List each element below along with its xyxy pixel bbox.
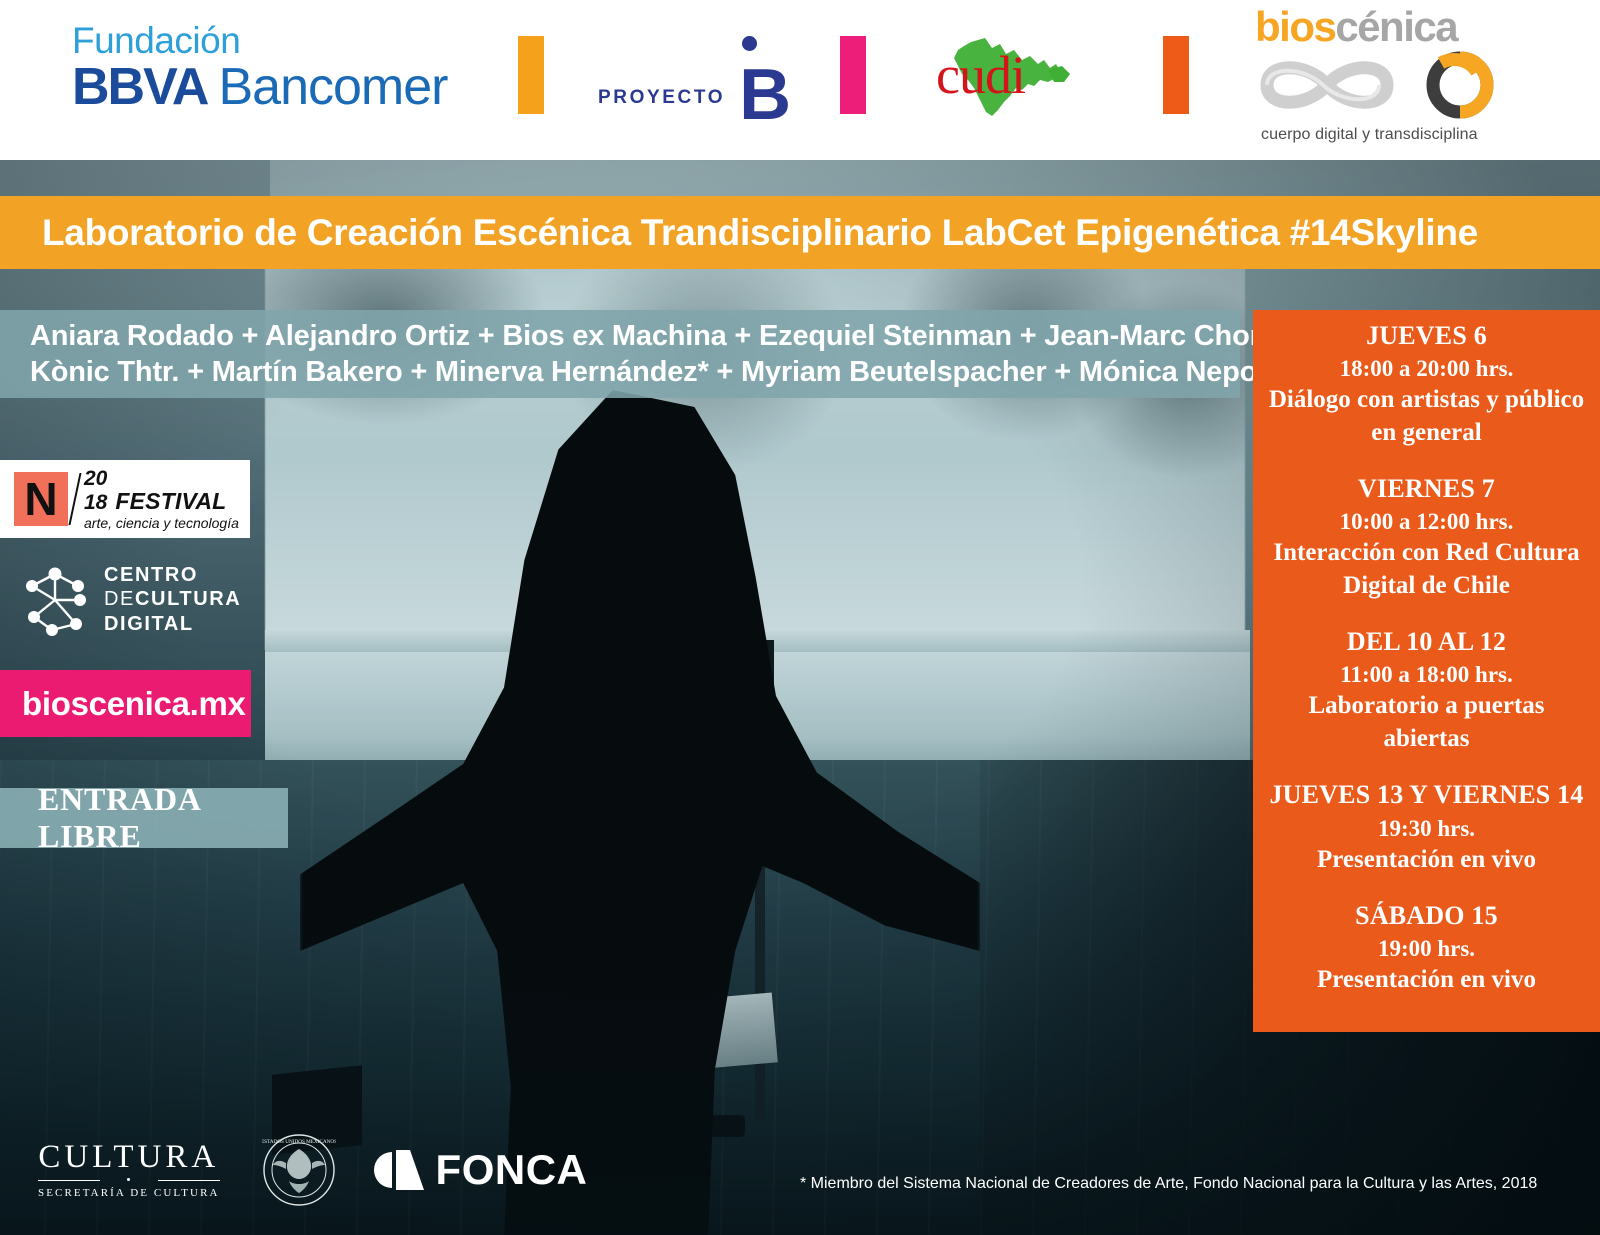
schedule-day: DEL 10 AL 12 (1253, 624, 1600, 659)
poster-root: Fundación BBVA Bancomer PROYECTO B cudi (0, 0, 1600, 1235)
bioscenica-word-part2: cénica (1335, 3, 1457, 50)
fonca-wordmark: FONCA (436, 1146, 588, 1194)
ccd-line-1: CENTRO (104, 564, 198, 586)
schedule-desc: Presentación en vivo (1253, 964, 1600, 997)
proyecto-b-letter: B (739, 59, 791, 131)
schedule-desc: Laboratorio a puertas abiertas (1253, 690, 1600, 755)
divider-bar-pink (840, 36, 866, 114)
proyecto-b-word: PROYECTO (598, 87, 725, 118)
schedule-desc: Interacción con Red Cultura Digital de C… (1253, 537, 1600, 602)
title-banner: Laboratorio de Creación Escénica Trandis… (0, 196, 1600, 269)
footnote-disclaimer: * Miembro del Sistema Nacional de Creado… (800, 1175, 1580, 1193)
infinity-loop-icon (1255, 50, 1495, 120)
secretaria-cultura-logo: CULTURA SECRETARÍA DE CULTURA (38, 1141, 220, 1199)
centro-cultura-digital-logo: CENTRO DECULTURA DIGITAL (22, 552, 252, 647)
schedule-time: 11:00 a 18:00 hrs. (1253, 659, 1600, 690)
cultura-wordmark: CULTURA (38, 1141, 220, 1174)
ccd-wordmark: CENTRO DECULTURA DIGITAL (104, 563, 241, 636)
bioscenica-logo: bioscénica cuerpo digital y transdiscipl… (1255, 6, 1500, 146)
schedule-panel: JUEVES 6 18:00 a 20:00 hrs. Diálogo con … (1253, 310, 1600, 1032)
sponsor-header: Fundación BBVA Bancomer PROYECTO B cudi (0, 0, 1600, 160)
festival-slash-divider (68, 473, 81, 525)
schedule-day: VIERNES 7 (1253, 471, 1600, 506)
fonca-symbol-icon (374, 1148, 426, 1192)
schedule-time: 10:00 a 12:00 hrs. (1253, 506, 1600, 537)
schedule-time: 19:30 hrs. (1253, 813, 1600, 844)
ccd-line-3: DIGITAL (104, 613, 194, 635)
festival-word: FESTIVAL (115, 490, 226, 513)
festival-year-top: 20 (84, 468, 239, 489)
cultura-rule-divider (38, 1178, 220, 1183)
artists-banner: Aniara Rodado + Alejandro Ortiz + Bios e… (0, 310, 1240, 398)
proyecto-b-letter-mark: B (733, 52, 789, 118)
proyecto-b-logo: PROYECTO B (598, 52, 789, 118)
artists-line-2: Kònic Thtr. + Martín Bakero + Minerva He… (0, 354, 1240, 390)
divider-bar-orange (518, 36, 544, 114)
festival-subtitle: arte, ciencia y tecnología (84, 516, 239, 530)
schedule-desc: Diálogo con artistas y público en genera… (1253, 384, 1600, 449)
schedule-desc: Presentación en vivo (1253, 844, 1600, 877)
ccd-line-2-cultura: CULTURA (135, 588, 241, 610)
bbva-bancomer-text: Bancomer (218, 61, 447, 113)
fonca-logo: FONCA (374, 1146, 588, 1194)
schedule-day: SÁBADO 15 (1253, 898, 1600, 933)
festival-letter-n: N (24, 476, 57, 522)
schedule-entry: SÁBADO 15 19:00 hrs. Presentación en viv… (1253, 898, 1600, 997)
escudo-inscription: ESTADOS UNIDOS MEXICANOS (262, 1139, 336, 1145)
cultura-subtitle: SECRETARÍA DE CULTURA (38, 1187, 220, 1199)
festival-n-mark: N (14, 472, 68, 526)
schedule-time: 18:00 a 20:00 hrs. (1253, 353, 1600, 384)
mexican-coat-of-arms-icon: ESTADOS UNIDOS MEXICANOS (262, 1133, 336, 1207)
bioscenica-word-part1: bios (1255, 3, 1335, 50)
divider-bar-deep-orange (1163, 36, 1189, 114)
schedule-entry: DEL 10 AL 12 11:00 a 18:00 hrs. Laborato… (1253, 624, 1600, 755)
schedule-entry: VIERNES 7 10:00 a 12:00 hrs. Interacción… (1253, 471, 1600, 602)
bbva-bancomer-logo: Fundación BBVA Bancomer (72, 22, 447, 113)
artists-line-1: Aniara Rodado + Alejandro Ortiz + Bios e… (0, 318, 1240, 354)
schedule-day: JUEVES 13 Y VIERNES 14 (1253, 777, 1600, 812)
network-nodes-icon (22, 560, 88, 640)
bbva-acronym-text: BBVA (72, 61, 207, 113)
schedule-time: 19:00 hrs. (1253, 933, 1600, 964)
festival-logo-badge: N 20 18 FESTIVAL arte, ciencia y tecnolo… (0, 460, 250, 538)
website-url-text: bioscenica.mx (0, 685, 246, 723)
cudi-wordmark: cudi (936, 44, 1025, 106)
bioscenica-wordmark: bioscénica (1255, 6, 1500, 48)
proyecto-b-dot-icon (742, 36, 757, 51)
bbva-fundacion-text: Fundación (72, 22, 447, 59)
free-entry-text: ENTRADA LIBRE (0, 781, 288, 855)
schedule-entry: JUEVES 13 Y VIERNES 14 19:30 hrs. Presen… (1253, 777, 1600, 876)
page-title: Laboratorio de Creación Escénica Trandis… (0, 212, 1478, 254)
festival-year-bottom: 18 (84, 492, 107, 513)
festival-text-block: 20 18 FESTIVAL arte, ciencia y tecnologí… (84, 468, 239, 530)
schedule-day: JUEVES 6 (1253, 318, 1600, 353)
cudi-logo: cudi (930, 30, 1090, 125)
footer-logo-row: CULTURA SECRETARÍA DE CULTURA ESTADOS UN… (38, 1130, 587, 1210)
free-entry-badge: ENTRADA LIBRE (0, 788, 288, 848)
ccd-line-2-de: DE (104, 588, 135, 610)
website-url-badge[interactable]: bioscenica.mx (0, 670, 251, 737)
schedule-entry: JUEVES 6 18:00 a 20:00 hrs. Diálogo con … (1253, 318, 1600, 449)
bioscenica-tagline: cuerpo digital y transdisciplina (1261, 126, 1478, 144)
